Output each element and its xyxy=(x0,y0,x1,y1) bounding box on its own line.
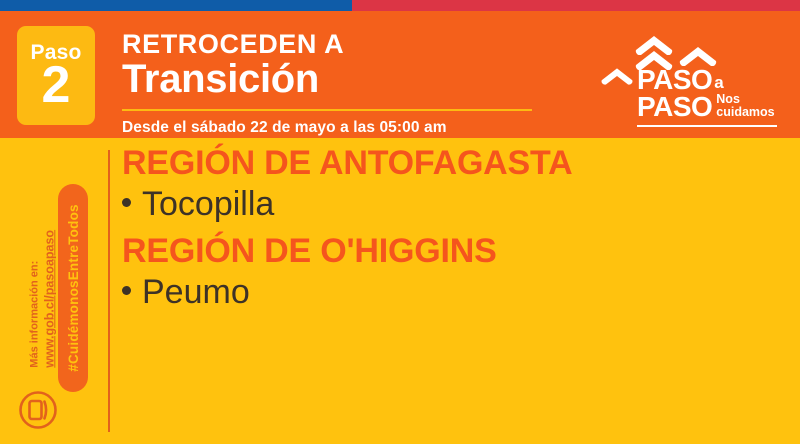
region-block: REGIÓN DE ANTOFAGASTA Tocopilla xyxy=(122,144,780,224)
paso-a-paso-poster: Paso 2 RETROCEDEN A Transición Desde el … xyxy=(0,0,800,444)
info-rail: Más información en: www.gob.cl/pasoapaso… xyxy=(0,138,108,444)
logo-wordmark-line1: PASO a xyxy=(600,67,782,93)
logo-tagline-line2: cuidamos xyxy=(716,105,774,119)
paso-step-badge: Paso 2 xyxy=(17,26,95,125)
rail-info-label: Más información en: xyxy=(28,178,42,368)
list-item: Peumo xyxy=(122,272,780,312)
comuna-name: Tocopilla xyxy=(142,184,274,224)
logo-underline-rule xyxy=(637,125,777,127)
logo-a-word: a xyxy=(714,74,723,91)
rail-info-text: Más información en: www.gob.cl/pasoapaso xyxy=(28,178,57,368)
logo-paso-word-1: PASO xyxy=(637,67,712,93)
comuna-name: Peumo xyxy=(142,272,250,312)
vertical-divider xyxy=(108,150,110,432)
region-block: REGIÓN DE O'HIGGINS Peumo xyxy=(122,232,780,312)
flag-stripe-blue xyxy=(0,0,352,11)
header-effective-date: Desde el sábado 22 de mayo a las 05:00 a… xyxy=(122,119,542,137)
hashtag-pill: #CuidémonosEntreTodos xyxy=(58,184,88,392)
bullet-icon xyxy=(122,198,131,207)
header-kicker: RETROCEDEN A xyxy=(122,30,542,58)
hashtag-label: #CuidémonosEntreTodos xyxy=(58,184,88,392)
mobile-device-icon xyxy=(18,390,58,430)
body-band: Más información en: www.gob.cl/pasoapaso… xyxy=(0,138,800,444)
logo-paso-word-2: PASO xyxy=(637,94,712,120)
header-title: Transición xyxy=(122,59,542,100)
chevron-up-icon xyxy=(600,65,634,91)
header-divider-rule xyxy=(122,109,532,111)
region-title: REGIÓN DE O'HIGGINS xyxy=(122,232,780,270)
paso-badge-number: 2 xyxy=(42,62,71,110)
header-band: Paso 2 RETROCEDEN A Transición Desde el … xyxy=(0,11,800,138)
logo-wordmark-line2: PASO Nos cuidamos xyxy=(600,94,782,120)
paso-a-paso-logo: PASO a PASO Nos cuidamos xyxy=(600,35,782,135)
chevron-up-icon xyxy=(678,46,718,66)
bullet-icon xyxy=(122,286,131,295)
region-title: REGIÓN DE ANTOFAGASTA xyxy=(122,144,780,182)
logo-tagline: Nos cuidamos xyxy=(716,93,774,119)
regions-list: REGIÓN DE ANTOFAGASTA Tocopilla REGIÓN D… xyxy=(122,144,780,312)
rail-website-url[interactable]: www.gob.cl/pasoapaso xyxy=(42,178,58,368)
logo-wordmark: PASO a PASO Nos cuidamos xyxy=(600,67,782,127)
flag-stripe-red xyxy=(352,0,800,11)
header-title-block: RETROCEDEN A Transición Desde el sábado … xyxy=(122,30,542,137)
chile-flag-stripe xyxy=(0,0,800,11)
list-item: Tocopilla xyxy=(122,184,780,224)
